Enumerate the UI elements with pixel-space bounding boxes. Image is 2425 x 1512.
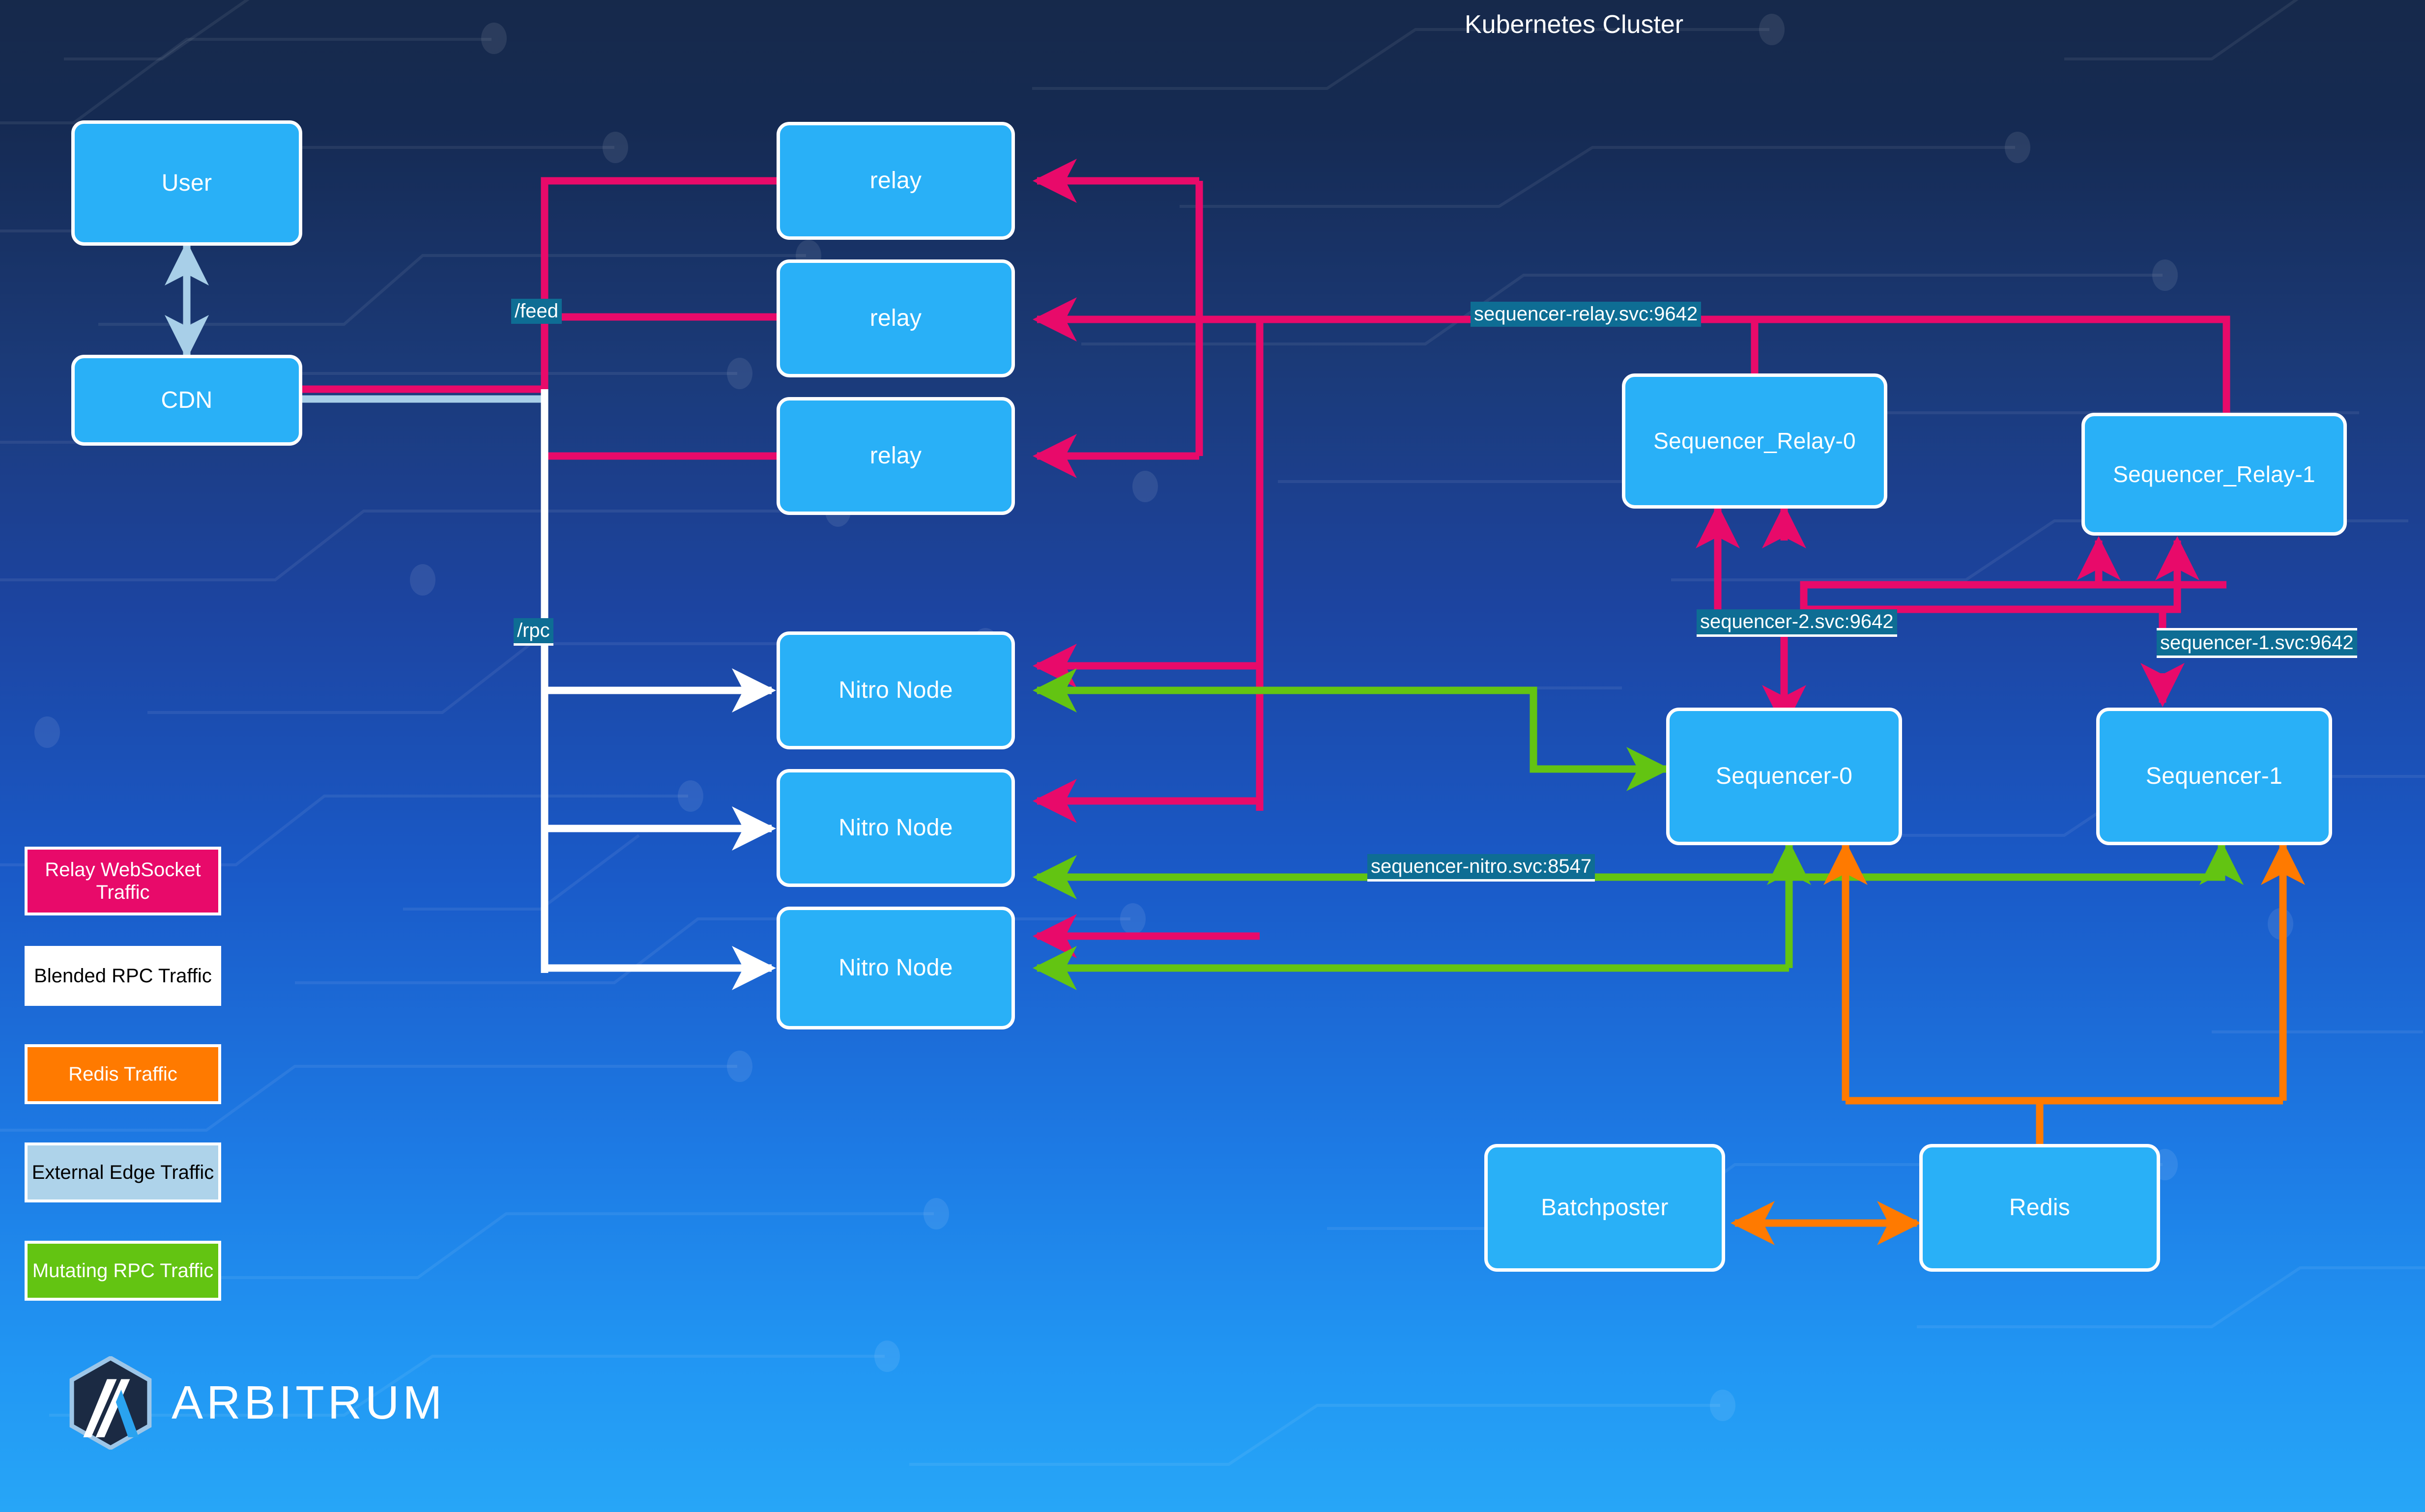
node-sequencer-1[interactable]: Sequencer-1 — [2096, 708, 2332, 845]
legend-item-mutating-rpc: Mutating RPC Traffic — [25, 1241, 221, 1301]
arbitrum-logo-icon — [66, 1356, 155, 1450]
edge-label-sequencer-2-svc: sequencer-2.svc:9642 — [1697, 609, 1897, 637]
connector-layer — [0, 0, 2425, 1512]
legend-label: Blended RPC Traffic — [34, 965, 212, 987]
legend-label: Relay WebSocket Traffic — [28, 858, 218, 904]
node-relay-1[interactable]: relay — [777, 259, 1015, 377]
node-label: Sequencer-1 — [2146, 763, 2282, 790]
node-nitro-0[interactable]: Nitro Node — [777, 631, 1015, 749]
node-relay-2[interactable]: relay — [777, 397, 1015, 515]
node-label: Sequencer_Relay-0 — [1653, 428, 1856, 454]
legend-label: Mutating RPC Traffic — [32, 1259, 213, 1282]
node-label: relay — [870, 167, 922, 194]
node-redis[interactable]: Redis — [1919, 1144, 2160, 1272]
legend-item-relay-websocket: Relay WebSocket Traffic — [25, 847, 221, 915]
circuit-background — [0, 0, 2425, 1512]
edge-label-text: sequencer-nitro.svc:8547 — [1371, 856, 1591, 877]
node-label: relay — [870, 305, 922, 332]
node-label: relay — [870, 442, 922, 469]
edge-sequencer-2-svc — [1718, 509, 2177, 703]
edge-label-text: sequencer-relay.svc:9642 — [1474, 303, 1698, 325]
node-sequencer-relay-1[interactable]: Sequencer_Relay-1 — [2081, 413, 2347, 536]
edge-label-sequencer-relay-svc: sequencer-relay.svc:9642 — [1471, 302, 1701, 327]
edge-label-text: /feed — [515, 300, 558, 322]
legend-label: Redis Traffic — [68, 1063, 177, 1085]
edge-label-text: sequencer-1.svc:9642 — [2160, 632, 2354, 654]
legend-item-blended-rpc: Blended RPC Traffic — [25, 946, 221, 1006]
legend-item-redis: Redis Traffic — [25, 1044, 221, 1104]
legend-item-external-edge: External Edge Traffic — [25, 1142, 221, 1202]
edge-label-rpc: /rpc — [514, 618, 553, 646]
node-label: User — [162, 170, 212, 197]
node-label: Nitro Node — [838, 954, 953, 981]
node-label: Nitro Node — [838, 814, 953, 841]
edge-rpc-to-nitro — [545, 389, 772, 973]
page-title: Kubernetes Cluster — [1465, 10, 1683, 39]
node-relay-0[interactable]: relay — [777, 122, 1015, 240]
node-nitro-1[interactable]: Nitro Node — [777, 769, 1015, 887]
edge-label-sequencer-nitro-svc: sequencer-nitro.svc:8547 — [1367, 854, 1595, 882]
node-label: Batchposter — [1541, 1194, 1668, 1221]
edge-mutating-rpc — [1037, 690, 2222, 968]
diagram-canvas: Kubernetes Cluster User CDN relay relay … — [0, 0, 2425, 1512]
node-nitro-2[interactable]: Nitro Node — [777, 907, 1015, 1029]
node-batchposter[interactable]: Batchposter — [1484, 1144, 1725, 1272]
brand-wordmark: ARBITRUM — [172, 1376, 445, 1430]
edge-label-sequencer-1-svc: sequencer-1.svc:9642 — [2157, 628, 2357, 658]
edge-label-text: /rpc — [517, 620, 550, 641]
node-label: Sequencer_Relay-1 — [2113, 461, 2315, 487]
node-label: Sequencer-0 — [1716, 763, 1852, 790]
node-label: Redis — [2009, 1194, 2070, 1221]
edge-pink-to-nitro — [1037, 666, 1260, 936]
node-label: Nitro Node — [838, 677, 953, 704]
node-cdn[interactable]: CDN — [71, 355, 302, 446]
node-sequencer-relay-0[interactable]: Sequencer_Relay-0 — [1622, 373, 1887, 509]
node-label: CDN — [161, 387, 213, 414]
edge-seqrelay-to-relays — [1037, 181, 1260, 811]
edge-label-text: sequencer-2.svc:9642 — [1700, 611, 1894, 632]
node-user[interactable]: User — [71, 120, 302, 246]
brand-logo: ARBITRUM — [66, 1356, 445, 1450]
edge-relay-feed-cdn — [222, 181, 781, 456]
edge-label-feed: /feed — [511, 299, 562, 324]
legend-label: External Edge Traffic — [32, 1161, 214, 1184]
node-sequencer-0[interactable]: Sequencer-0 — [1666, 708, 1902, 845]
